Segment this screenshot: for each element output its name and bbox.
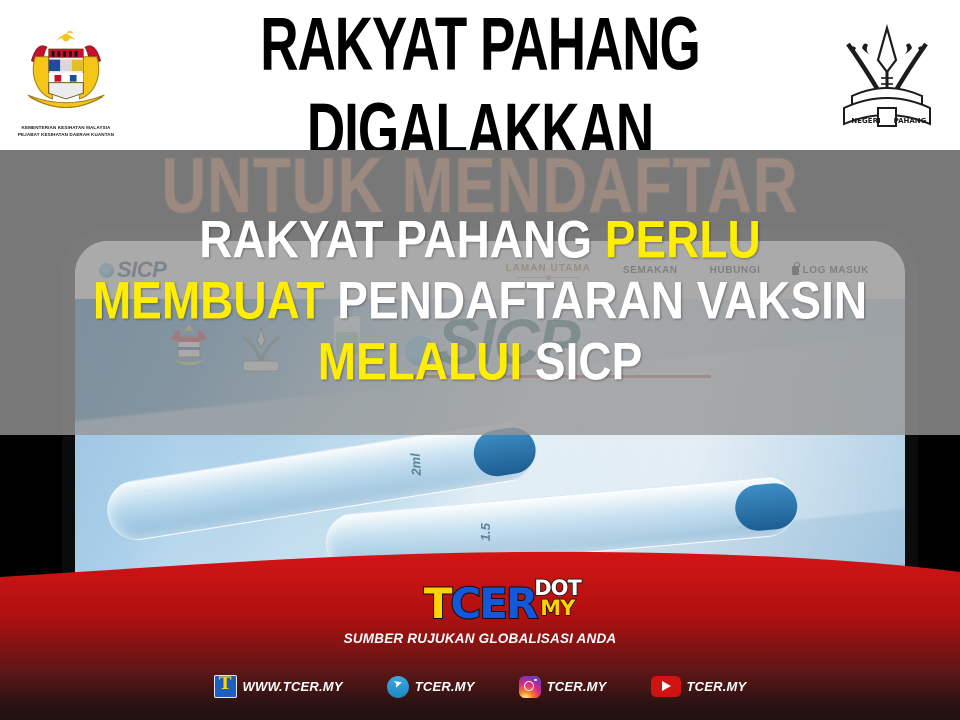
- tcer-logo-inline: TCER DOT MY: [424, 582, 537, 630]
- footer-wave-band: TCER DOT MY SUMBER RUJUKAN GLOBALISASI A…: [0, 520, 960, 720]
- headline-line1-white: RAKYAT PAHANG: [199, 210, 592, 269]
- malaysia-coat-of-arms-icon: [8, 28, 124, 120]
- telegram-icon: [387, 676, 409, 698]
- header-title-line1: RAKYAT PAHANG: [113, 10, 847, 80]
- headline-line3-white: SICP: [535, 332, 642, 391]
- social-item-website[interactable]: WWW.TCER.MY: [214, 675, 343, 698]
- youtube-icon: [651, 676, 681, 697]
- pahang-banner-left: NEGERI: [851, 117, 880, 125]
- syringe-plunger-upper: [470, 424, 538, 479]
- tcer-tagline: SUMBER RUJUKAN GLOBALISASI ANDA: [0, 631, 960, 646]
- syringe-tick-2ml: 2ml: [408, 453, 424, 476]
- tcer-letters-cer: CER: [450, 579, 536, 628]
- headline-row-1: RAKYAT PAHANG PERLU: [0, 212, 960, 268]
- instagram-icon: [519, 676, 541, 698]
- pahang-banner-right: PAHANG: [894, 117, 927, 125]
- tcer-logo[interactable]: TCER DOT MY: [0, 582, 960, 630]
- tcer-dot-my-block: DOT MY: [534, 578, 580, 618]
- headline-row-3: MELALUI SICP: [0, 334, 960, 390]
- main-headline: RAKYAT PAHANG PERLU MEMBUAT PENDAFTARAN …: [0, 212, 960, 384]
- moh-logo-caption: KEMENTERIAN KESIHATAN MALAYSIA PEJABAT K…: [8, 124, 124, 138]
- headline-line1-yellow: PERLU: [605, 210, 761, 269]
- tcer-my-text: MY: [540, 598, 580, 618]
- headline-line3-yellow: MELALUI: [318, 332, 522, 391]
- social-links-row: WWW.TCER.MY TCER.MY TCER.MY TCER.MY: [0, 675, 960, 698]
- headline-line2-white: PENDAFTARAN VAKSIN: [337, 271, 867, 330]
- moh-logo: KEMENTERIAN KESIHATAN MALAYSIA PEJABAT K…: [8, 28, 124, 140]
- tcer-letter-t: T: [424, 579, 451, 628]
- pahang-state-crest-icon: NEGERI PAHANG: [832, 22, 942, 144]
- poster-canvas: UNTUK MENDAFTAR SICP LAMAN UTAMA SEMAKAN: [0, 0, 960, 720]
- social-label-youtube: TCER.MY: [687, 679, 747, 694]
- header-title-block: RAKYAT PAHANG DIGALAKKAN: [120, 6, 840, 145]
- pahang-crest-logo: NEGERI PAHANG: [832, 22, 942, 144]
- tcer-favicon-icon: [214, 675, 237, 698]
- header-banner: KEMENTERIAN KESIHATAN MALAYSIA PEJABAT K…: [0, 0, 960, 150]
- footer-content: TCER DOT MY SUMBER RUJUKAN GLOBALISASI A…: [0, 520, 960, 720]
- tcer-wordmark: TCER: [424, 579, 537, 628]
- moh-caption-line2: PEJABAT KESIHATAN DAERAH KUANTAN: [8, 131, 124, 138]
- social-item-youtube[interactable]: TCER.MY: [651, 676, 747, 697]
- social-label-website: WWW.TCER.MY: [243, 679, 343, 694]
- social-item-instagram[interactable]: TCER.MY: [519, 676, 607, 698]
- headline-row-2: MEMBUAT PENDAFTARAN VAKSIN: [0, 273, 960, 329]
- social-label-instagram: TCER.MY: [547, 679, 607, 694]
- social-item-telegram[interactable]: TCER.MY: [387, 676, 475, 698]
- moh-caption-line1: KEMENTERIAN KESIHATAN MALAYSIA: [8, 124, 124, 131]
- headline-line2-yellow: MEMBUAT: [93, 271, 325, 330]
- social-label-telegram: TCER.MY: [415, 679, 475, 694]
- header-title-line2: DIGALAKKAN: [113, 96, 847, 150]
